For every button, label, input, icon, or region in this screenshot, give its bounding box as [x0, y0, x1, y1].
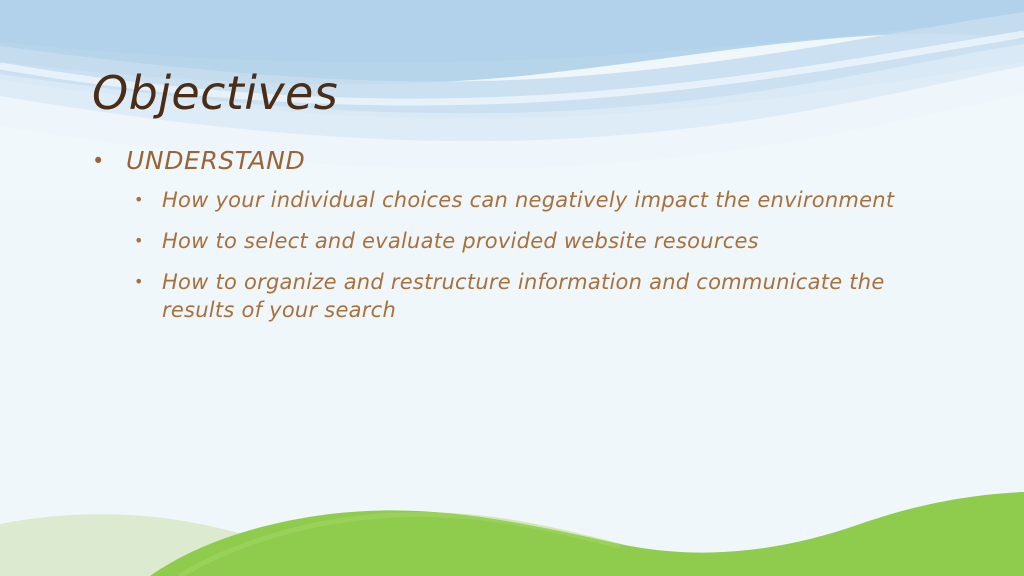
hill-light-right — [610, 520, 1024, 576]
bullet-level2: • How your individual choices can negati… — [134, 186, 958, 214]
bullet-level1-text: UNDERSTAND — [126, 146, 958, 176]
hill-dark-right — [650, 506, 1024, 576]
hill-bright-right — [700, 492, 1024, 576]
presentation-slide: Objectives • UNDERSTAND • How your indiv… — [0, 0, 1024, 576]
bullet-marker-icon: • — [134, 268, 162, 296]
bullet-level2-text: How to select and evaluate provided webs… — [162, 227, 910, 255]
bullet-level2: • How to organize and restructure inform… — [134, 268, 958, 324]
hill-bright-main — [150, 492, 1024, 576]
bullet-marker-icon: • — [88, 146, 126, 176]
bullet-marker-icon: • — [134, 227, 162, 255]
bullet-marker-icon: • — [134, 186, 162, 214]
bullet-level2: • How to select and evaluate provided we… — [134, 227, 958, 255]
sky-band-deep — [0, 0, 1024, 63]
hill-pale-left — [0, 514, 340, 576]
hill-mid-right — [620, 512, 1024, 576]
bullet-level2-text: How to organize and restructure informat… — [162, 268, 910, 324]
bullet-level1: • UNDERSTAND — [88, 146, 958, 176]
bullet-level2-group: • How your individual choices can negati… — [134, 186, 958, 324]
hill-darkest-right — [660, 500, 1024, 576]
page-title: Objectives — [92, 68, 952, 120]
title-area: Objectives — [92, 68, 952, 120]
bullet-level2-text: How your individual choices can negative… — [162, 186, 910, 214]
hill-crest-highlight — [180, 514, 620, 576]
content-body: • UNDERSTAND • How your individual choic… — [88, 146, 958, 337]
